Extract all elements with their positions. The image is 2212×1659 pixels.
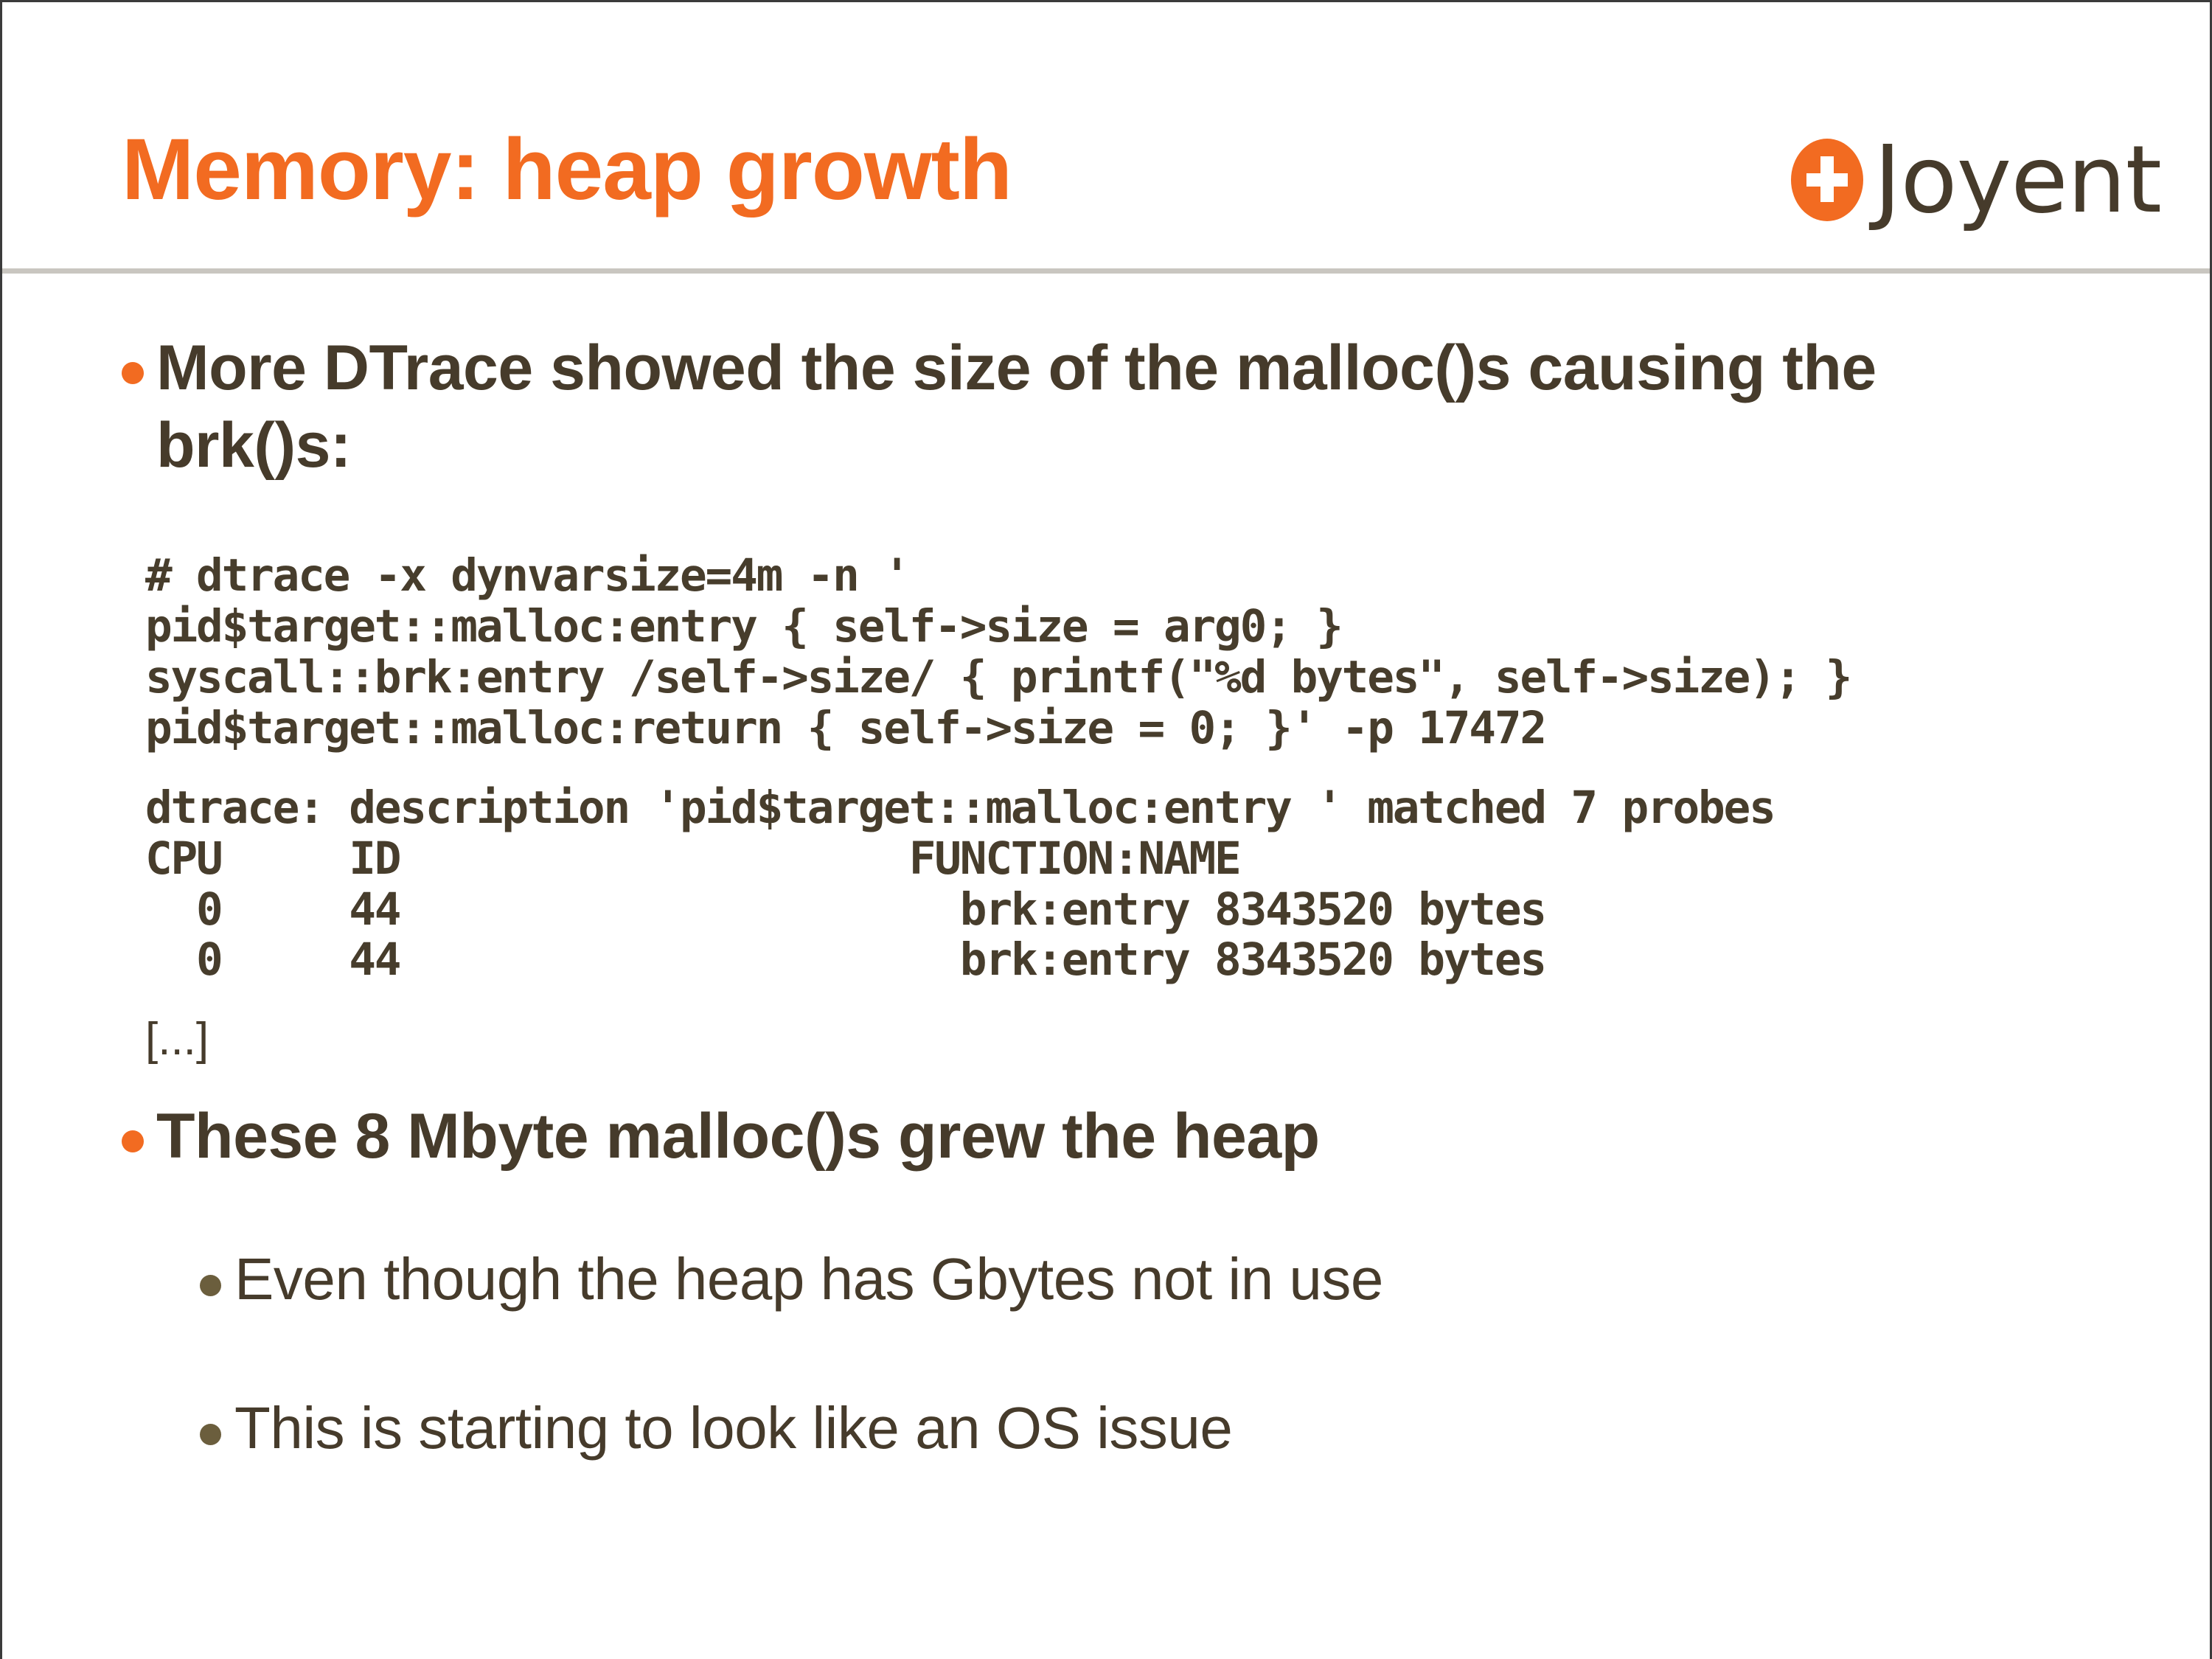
code-block: # dtrace -x dynvarsize=4m -n 'pid$target… xyxy=(145,551,1851,986)
bullet-marker-icon xyxy=(200,1424,221,1445)
joyent-wordmark: Joyent xyxy=(1874,133,2161,226)
code-line: # dtrace -x dynvarsize=4m -n ' xyxy=(145,551,1851,602)
bullet-item-4: This is starting to look like an OS issu… xyxy=(200,1393,2043,1464)
bullet-text: These 8 Mbyte malloc()s grew the heap xyxy=(156,1098,1320,1175)
code-line: 0 44 brk:entry 8343520 bytes xyxy=(145,885,1851,936)
code-line-blank xyxy=(145,754,1851,783)
code-truncation-marker: [...] xyxy=(145,1017,209,1062)
code-line: dtrace: description 'pid$target::malloc:… xyxy=(145,783,1851,834)
bullet-item-1: More DTrace showed the size of the mallo… xyxy=(122,330,2039,484)
bullet-text: This is starting to look like an OS issu… xyxy=(234,1393,1232,1464)
joyent-logo: Joyent xyxy=(1791,133,2161,226)
bullet-item-3: Even though the heap has Gbytes not in u… xyxy=(200,1244,2043,1315)
bullet-marker-icon xyxy=(122,1130,144,1152)
code-line: 0 44 brk:entry 8343520 bytes xyxy=(145,935,1851,986)
code-line: pid$target::malloc:entry { self->size = … xyxy=(145,602,1851,653)
page-title: Memory: heap growth xyxy=(122,126,1012,213)
bullet-text: More DTrace showed the size of the mallo… xyxy=(156,330,1926,484)
bullet-item-2: These 8 Mbyte malloc()s grew the heap xyxy=(122,1098,2039,1175)
slide-body: More DTrace showed the size of the mallo… xyxy=(2,271,2212,1659)
code-line: pid$target::malloc:return { self->size =… xyxy=(145,703,1851,754)
bullet-marker-icon xyxy=(200,1275,221,1296)
bullet-marker-icon xyxy=(122,362,144,384)
bullet-text: Even though the heap has Gbytes not in u… xyxy=(234,1244,1383,1315)
slide-header: Memory: heap growth Joyent xyxy=(2,2,2212,271)
code-line: CPU ID FUNCTION:NAME xyxy=(145,834,1851,885)
slide: Memory: heap growth Joyent More DTrace s… xyxy=(0,0,2212,1659)
code-line: syscall::brk:entry /self->size/ { printf… xyxy=(145,653,1851,703)
joyent-cross-icon xyxy=(1791,139,1863,221)
